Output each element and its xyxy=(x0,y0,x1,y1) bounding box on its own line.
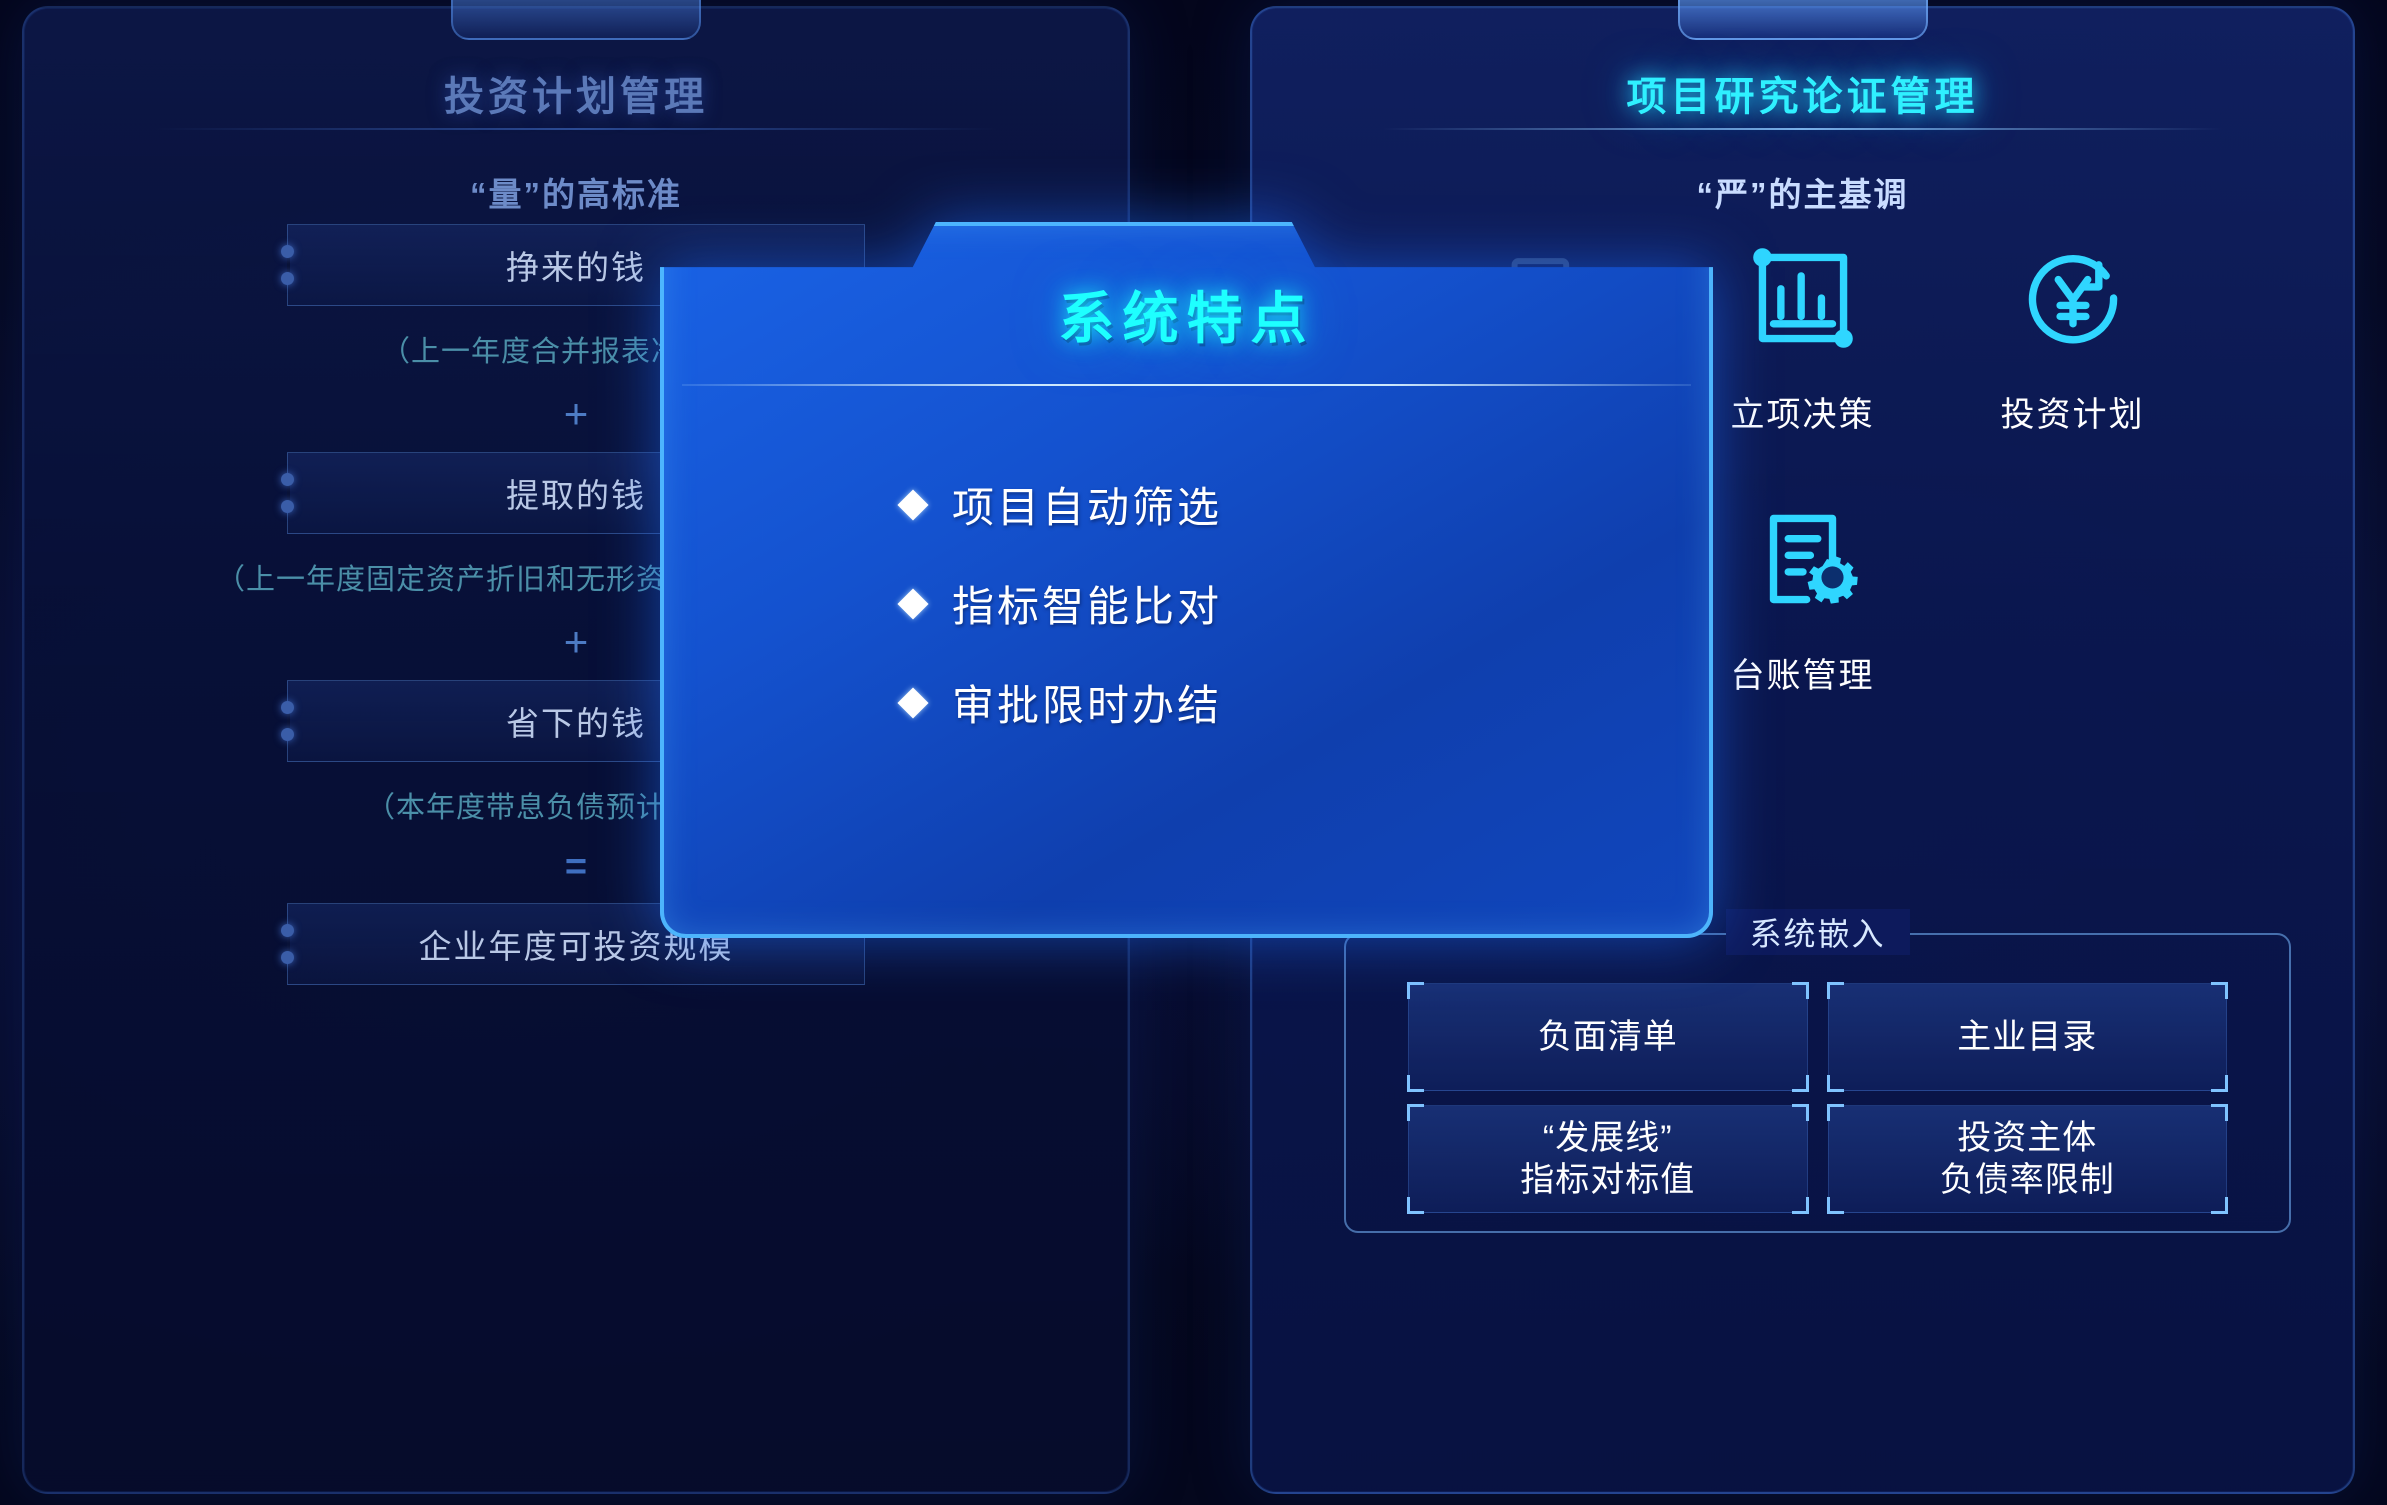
feature-label: 投资计划 xyxy=(1938,387,2208,436)
modal-feature-item[interactable]: 项目自动筛选 xyxy=(902,474,1222,535)
box-dot-icon xyxy=(281,473,294,486)
corner-marker-icon xyxy=(1792,1197,1809,1214)
panel-notch-right xyxy=(1678,0,1928,40)
system-features-modal[interactable]: 系统特点 项目自动筛选 指标智能比对 审批限时办结 xyxy=(660,222,1713,938)
box-dot-icon xyxy=(281,272,294,285)
corner-marker-icon xyxy=(1407,1197,1424,1214)
box-dot-icon xyxy=(281,728,294,741)
embed-cell-label-line1: “发展线” xyxy=(1520,1117,1695,1160)
embed-cell-label: 主业目录 xyxy=(1957,1016,2097,1059)
system-embed-section: 系统嵌入 负面清单 主业目录 xyxy=(1344,933,2291,1233)
corner-marker-icon xyxy=(1827,1197,1844,1214)
embed-cell-development-line[interactable]: “发展线” 指标对标值 xyxy=(1408,1105,1808,1213)
left-panel-title: 投资计划管理 xyxy=(24,64,1128,122)
corner-marker-icon xyxy=(1827,1075,1844,1092)
system-embed-grid: 负面清单 主业目录 “ xyxy=(1408,983,2227,1213)
box-dot-icon xyxy=(281,924,294,937)
modal-feature-label: 审批限时办结 xyxy=(952,672,1222,733)
embed-cell-label: 负面清单 xyxy=(1538,1016,1678,1059)
formula-box-label: 提取的钱 xyxy=(506,469,646,517)
box-dot-icon xyxy=(281,245,294,258)
left-panel-subtitle: “量”的高标准 xyxy=(24,168,1128,216)
box-dot-icon xyxy=(281,500,294,513)
corner-marker-icon xyxy=(1827,982,1844,999)
embed-cell-label-line2: 负债率限制 xyxy=(1940,1159,2115,1202)
formula-box-label: 省下的钱 xyxy=(506,697,646,745)
modal-feature-label: 项目自动筛选 xyxy=(952,474,1222,535)
yuan-circle-icon xyxy=(1938,223,2208,373)
corner-marker-icon xyxy=(1407,982,1424,999)
box-dot-icon xyxy=(281,951,294,964)
formula-box-label: 挣来的钱 xyxy=(506,241,646,289)
right-panel-subtitle: “严”的主基调 xyxy=(1252,168,2353,216)
embed-cell-investor-debt-limit[interactable]: 投资主体 负债率限制 xyxy=(1828,1105,2228,1213)
diamond-bullet-icon xyxy=(897,687,928,718)
modal-title: 系统特点 xyxy=(660,274,1713,355)
diamond-bullet-icon xyxy=(897,489,928,520)
modal-feature-label: 指标智能比对 xyxy=(952,573,1222,634)
right-panel-divider xyxy=(1382,128,2223,130)
panel-notch-left xyxy=(451,0,701,40)
corner-marker-icon xyxy=(2211,1197,2228,1214)
corner-marker-icon xyxy=(1827,1104,1844,1121)
modal-feature-list: 项目自动筛选 指标智能比对 审批限时办结 xyxy=(902,474,1222,771)
embed-cell-main-business-catalog[interactable]: 主业目录 xyxy=(1828,983,2228,1091)
embed-cell-label-line1: 投资主体 xyxy=(1940,1117,2115,1160)
slide-canvas: 投资计划管理 “量”的高标准 挣来的钱 （上一年度合并报表净利润） + 提取的钱… xyxy=(0,0,2387,1505)
right-panel-title: 项目研究论证管理 xyxy=(1252,64,2353,122)
embed-cell-label-line2: 指标对标值 xyxy=(1520,1159,1695,1202)
corner-marker-icon xyxy=(2211,1104,2228,1121)
modal-feature-item[interactable]: 指标智能比对 xyxy=(902,573,1222,634)
left-panel-divider xyxy=(154,128,998,130)
system-embed-legend: 系统嵌入 xyxy=(1725,909,1909,955)
diamond-bullet-icon xyxy=(897,588,928,619)
corner-marker-icon xyxy=(1792,1075,1809,1092)
corner-marker-icon xyxy=(1792,982,1809,999)
feature-investment-plan[interactable]: 投资计划 xyxy=(1938,223,2208,436)
corner-marker-icon xyxy=(1407,1075,1424,1092)
corner-marker-icon xyxy=(2211,1075,2228,1092)
modal-divider xyxy=(682,384,1691,386)
modal-content: 系统特点 项目自动筛选 指标智能比对 审批限时办结 xyxy=(660,222,1713,938)
system-embed-frame: 系统嵌入 负面清单 主业目录 xyxy=(1344,933,2291,1233)
feature-spacer xyxy=(1938,484,2208,697)
modal-feature-item[interactable]: 审批限时办结 xyxy=(902,672,1222,733)
box-dot-icon xyxy=(281,701,294,714)
corner-marker-icon xyxy=(1407,1104,1424,1121)
corner-marker-icon xyxy=(2211,982,2228,999)
corner-marker-icon xyxy=(1792,1104,1809,1121)
embed-cell-negative-list[interactable]: 负面清单 xyxy=(1408,983,1808,1091)
